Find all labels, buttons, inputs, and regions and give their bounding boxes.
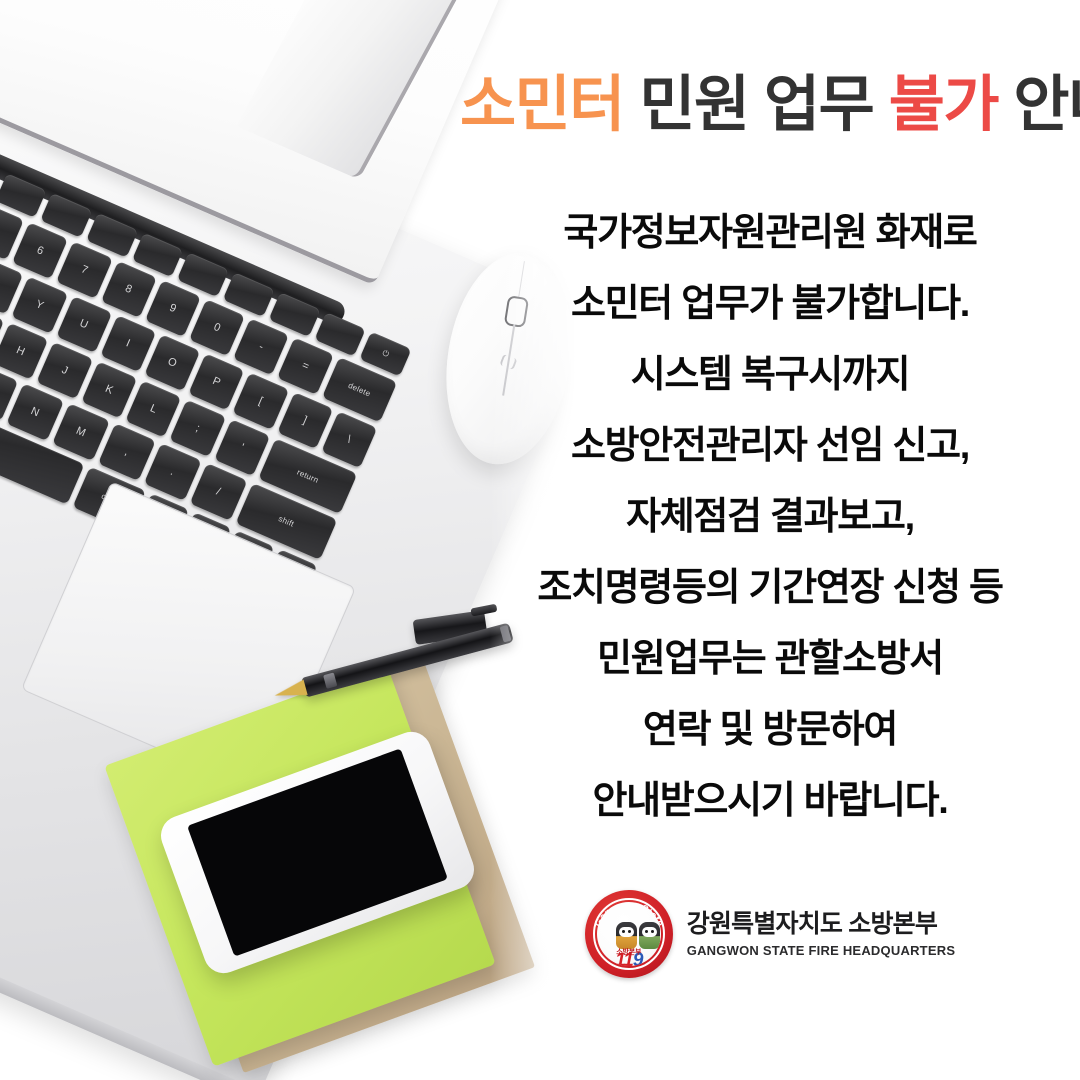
- body-line: 자체점검 결과보고,: [470, 482, 1070, 553]
- key-y: Y: [12, 277, 68, 334]
- key-label: ]: [301, 414, 309, 426]
- key-label: return: [296, 468, 320, 485]
- mascot-eye-left: [622, 930, 625, 933]
- key-label: K: [103, 383, 115, 397]
- key-label: T: [0, 279, 1, 293]
- key-label: H: [14, 344, 26, 358]
- key-label: -: [257, 341, 265, 354]
- logo-wordmark: 강원특별자치도 소방본부 GANGWON STATE FIRE HEADQUAR…: [687, 910, 956, 958]
- key-n: N: [6, 383, 64, 441]
- key-m: M: [52, 403, 110, 461]
- mascot-face: [642, 927, 657, 937]
- title-segment-civil-affairs: 민원 업무: [624, 70, 889, 138]
- key-label: P: [211, 375, 223, 389]
- body-line: 안내받으시기 바랍니다.: [470, 766, 1070, 837]
- rescue-mascot-icon: [639, 922, 660, 949]
- key-label: 6: [35, 244, 46, 258]
- organization-name-en: GANGWON STATE FIRE HEADQUARTERS: [687, 943, 956, 958]
- key-label: U: [78, 317, 90, 331]
- body-line: 소방안전관리자 선임 신고,: [470, 411, 1070, 482]
- key-label: 0: [212, 321, 223, 335]
- body-line: 시스템 복구시까지: [470, 340, 1070, 411]
- organization-logo: Gangwon State: [460, 890, 1080, 978]
- content-panel: 소민터 민원 업무 불가 안내 국가정보자원관리원 화재로 소민터 업무가 불가…: [460, 0, 1080, 1080]
- mascot-eye-left: [645, 930, 648, 933]
- key-label: N: [29, 405, 41, 419]
- key-bracket-left: [: [233, 373, 289, 430]
- key-slash: /: [189, 463, 247, 521]
- key-label: M: [74, 425, 87, 440]
- key-label: 7: [79, 263, 90, 277]
- key-comma: ,: [98, 423, 156, 481]
- body-line: 조치명령등의 기간연장 신청 등: [470, 553, 1070, 624]
- body-line: 국가정보자원관리원 화재로: [470, 198, 1070, 269]
- key-label: /: [214, 486, 222, 498]
- emblem-subtext: 소방본부: [597, 947, 661, 957]
- body-line: 소민터 업무가 불가합니다.: [470, 269, 1070, 340]
- key-label: I: [124, 337, 132, 349]
- key-equals: =: [277, 338, 333, 395]
- key-label: .: [169, 466, 177, 478]
- organization-name-kr: 강원특별자치도 소방본부: [687, 910, 956, 940]
- mascot-eye-right: [651, 930, 654, 933]
- emblem-inner-disc: 119 소방본부: [597, 902, 661, 966]
- notice-body: 국가정보자원관리원 화재로 소민터 업무가 불가합니다. 시스템 복구시까지 소…: [470, 198, 1070, 837]
- key-label: delete: [347, 381, 372, 399]
- key-label: 9: [168, 302, 179, 316]
- key-label: \: [345, 434, 353, 446]
- key-label: [: [257, 395, 265, 407]
- title-segment-unavailable: 불가: [889, 70, 998, 138]
- key-u: U: [56, 296, 112, 353]
- fire-service-emblem-icon: Gangwon State: [585, 890, 673, 978]
- notice-poster: esc ⏻ ~ 1 2 3 4 5: [0, 0, 1080, 1080]
- key-period: .: [144, 443, 202, 501]
- key-label: ;: [194, 422, 202, 434]
- key-label: shift: [277, 514, 295, 529]
- firefighter-mascot-icon: [616, 922, 637, 949]
- key-label: L: [148, 402, 159, 416]
- title-segment-notice: 안내: [998, 70, 1080, 138]
- pen-grip: [323, 673, 337, 689]
- title-segment-sominteo: 소민터: [460, 70, 624, 138]
- key-label: Y: [34, 298, 46, 312]
- key-7: 7: [56, 242, 112, 299]
- key-label: =: [300, 359, 311, 373]
- mascot-face: [619, 927, 634, 937]
- key-label: J: [60, 364, 70, 377]
- key-label: O: [166, 356, 179, 371]
- body-line: 연락 및 방문하여: [470, 695, 1070, 766]
- key-label: ⏻: [381, 348, 391, 360]
- page-title: 소민터 민원 업무 불가 안내: [460, 72, 1080, 138]
- mascot-eye-right: [628, 930, 631, 933]
- key-label: 5: [0, 225, 1, 239]
- key-f5: [0, 173, 47, 218]
- key-label: ,: [123, 446, 131, 458]
- key-label: ': [239, 442, 246, 454]
- key-label: 8: [123, 283, 134, 297]
- body-line: 민원업무는 관할소방서: [470, 624, 1070, 695]
